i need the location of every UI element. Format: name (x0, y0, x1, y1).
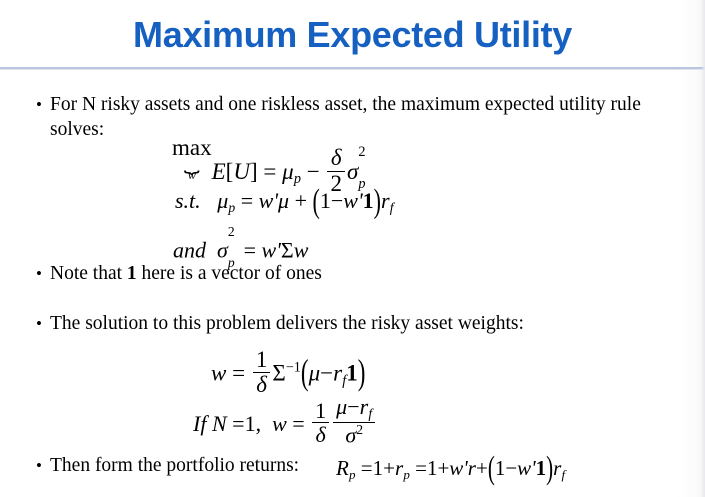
minus-sign: − (347, 394, 359, 419)
riskfree-rate: r (553, 456, 561, 480)
equals-sign-1: = (361, 456, 373, 480)
bullet-item-4: • Then form the portfolio returns: (28, 453, 358, 478)
minus-sign: − (331, 188, 343, 213)
sigma-p-sub-sup: 2p (228, 234, 238, 261)
bullet-marker-icon: • (28, 311, 50, 336)
eq-constraint-mean: s.t. μp = w'μ + (1−w'1)rf (175, 190, 394, 215)
page-title: Maximum Expected Utility (0, 14, 705, 56)
equals-sign-2: = (292, 411, 304, 436)
subject-to-label: s.t. (175, 188, 201, 213)
one-literal: 1 (253, 348, 271, 373)
bullet-marker-icon: • (28, 453, 50, 478)
bullet-item-1: • For N risky assets and one riskless as… (28, 92, 693, 142)
mu-symbol: μ (336, 394, 347, 419)
ones-vector: 1 (363, 188, 374, 213)
sigma-superscript: 2 (356, 422, 363, 437)
plus-sign-1: + (383, 456, 395, 480)
bullet-text-4: Then form the portfolio returns: (50, 453, 299, 478)
paren-open: ( (301, 355, 309, 391)
one-literal: 1 (312, 399, 329, 423)
bullet-text-3: The solution to this problem delivers th… (50, 311, 524, 336)
w-scalar: w (272, 411, 287, 436)
sigma-symbol: σ (347, 159, 358, 184)
bullet-text-2-before: Note that (50, 263, 127, 284)
inverse-exponent: −1 (286, 360, 301, 376)
one-literal-a: 1 (373, 456, 384, 480)
title-block: Maximum Expected Utility (0, 14, 705, 56)
plus-sign-3: + (476, 456, 488, 480)
w-vector: w (294, 238, 309, 263)
equals-sign-1: = (232, 411, 244, 436)
max-operator: max⏟w (172, 136, 212, 182)
mu-p-symbol: μ (217, 188, 228, 213)
riskfree-subscript: f (368, 406, 372, 421)
slide: Maximum Expected Utility • For N risky a… (0, 0, 705, 497)
bullet-text-2-after: here is a vector of ones (137, 263, 322, 284)
equals-sign: = (263, 159, 276, 184)
riskfree-rate: r (333, 360, 342, 385)
riskfree-subscript: f (562, 467, 566, 482)
riskfree-rate: r (360, 394, 369, 419)
one-over-delta-fraction: 1δ (312, 399, 329, 447)
bullet-item-3: • The solution to this problem delivers … (28, 311, 628, 336)
title-divider-soft (0, 69, 705, 70)
one-value: 1, (245, 411, 262, 436)
covariance-matrix: Σ (281, 238, 294, 263)
asset-returns: r (468, 456, 476, 480)
eq-solution-scalar: If N =1, w = 1δμ−rfσ2 (193, 395, 377, 447)
slide-body: • For N risky assets and one riskless as… (0, 78, 705, 497)
mu-symbol: μ (282, 159, 294, 184)
return-symbol: r (395, 456, 403, 480)
and-label: and (173, 238, 206, 263)
paren-close: ) (358, 355, 366, 391)
bullet-text-1: For N risky assets and one riskless asse… (50, 92, 693, 142)
w-prime-2: w' (517, 456, 536, 480)
covariance-matrix: Σ (272, 360, 285, 385)
plus-sign-2: + (437, 456, 449, 480)
slide-right-edge (701, 0, 705, 497)
delta-symbol: δ (327, 146, 345, 171)
riskfree-rate: r (381, 188, 390, 213)
bullet-marker-icon: • (28, 261, 50, 286)
sigma-sub-sup: 2p (358, 154, 369, 183)
mu-subscript: p (294, 171, 301, 187)
minus-sign: − (505, 456, 517, 480)
delta-symbol: δ (312, 423, 329, 446)
sigma-superscript: 2 (358, 145, 369, 159)
mu-vector: μ (278, 188, 289, 213)
portfolio-return-symbol: R (336, 456, 349, 480)
w-prime: w' (259, 188, 278, 213)
w-prime: w' (262, 238, 281, 263)
bullet-text-2: Note that 1 here is a vector of ones (50, 261, 322, 286)
ones-vector: 1 (346, 360, 358, 385)
mu-p-subscript: p (228, 200, 235, 215)
N-symbol: N (212, 411, 227, 436)
equals-sign: = (232, 360, 245, 385)
one-literal-c: 1 (495, 456, 506, 480)
underbrace-icon: ⏟ (165, 160, 218, 169)
variance-denominator: σ2 (333, 423, 375, 447)
bullet-item-2: • Note that 1 here is a vector of ones (28, 261, 528, 286)
w-prime-2: w' (343, 188, 362, 213)
paren-open: ( (488, 452, 495, 485)
plus-sign: + (295, 188, 307, 213)
sigma-symbol: σ (345, 422, 356, 447)
bracket-close: ] (250, 159, 258, 184)
one-literal: 1 (320, 188, 331, 213)
eq-constraint-variance: and σ2p = w'Σw (173, 233, 308, 262)
ones-vector: 1 (536, 456, 547, 480)
excess-return-over-variance-fraction: μ−rfσ2 (333, 395, 375, 447)
bullet-text-2-bold-token: 1 (127, 263, 137, 284)
paren-close: ) (374, 184, 381, 218)
sigma-p-symbol: σ (217, 238, 228, 263)
portfolio-return-subscript: p (349, 467, 356, 482)
one-over-delta-fraction: 1δ (253, 348, 271, 398)
equals-sign-2: = (415, 456, 427, 480)
mu-vector: μ (309, 360, 321, 385)
w-vector: w (211, 360, 226, 385)
paren-close: ) (546, 452, 553, 485)
one-literal-b: 1 (427, 456, 438, 480)
utility-symbol: U (233, 159, 250, 184)
if-label: If (193, 411, 206, 436)
w-prime: w' (449, 456, 468, 480)
paren-open: ( (313, 184, 320, 218)
minus-sign: − (320, 360, 333, 385)
sigma-p-superscript: 2 (228, 225, 238, 239)
return-subscript: p (403, 467, 410, 482)
eq-solution-weights: w = 1δΣ−1(μ−rf1) (211, 348, 365, 398)
equals-sign: = (244, 238, 256, 263)
eq-portfolio-return: Rp =1+rp =1+w'r+(1−w'1)rf (336, 458, 565, 481)
bullet-marker-icon: • (28, 92, 50, 117)
equals-sign: = (241, 188, 253, 213)
riskfree-subscript: f (390, 200, 394, 215)
excess-return-numerator: μ−rf (333, 395, 375, 423)
